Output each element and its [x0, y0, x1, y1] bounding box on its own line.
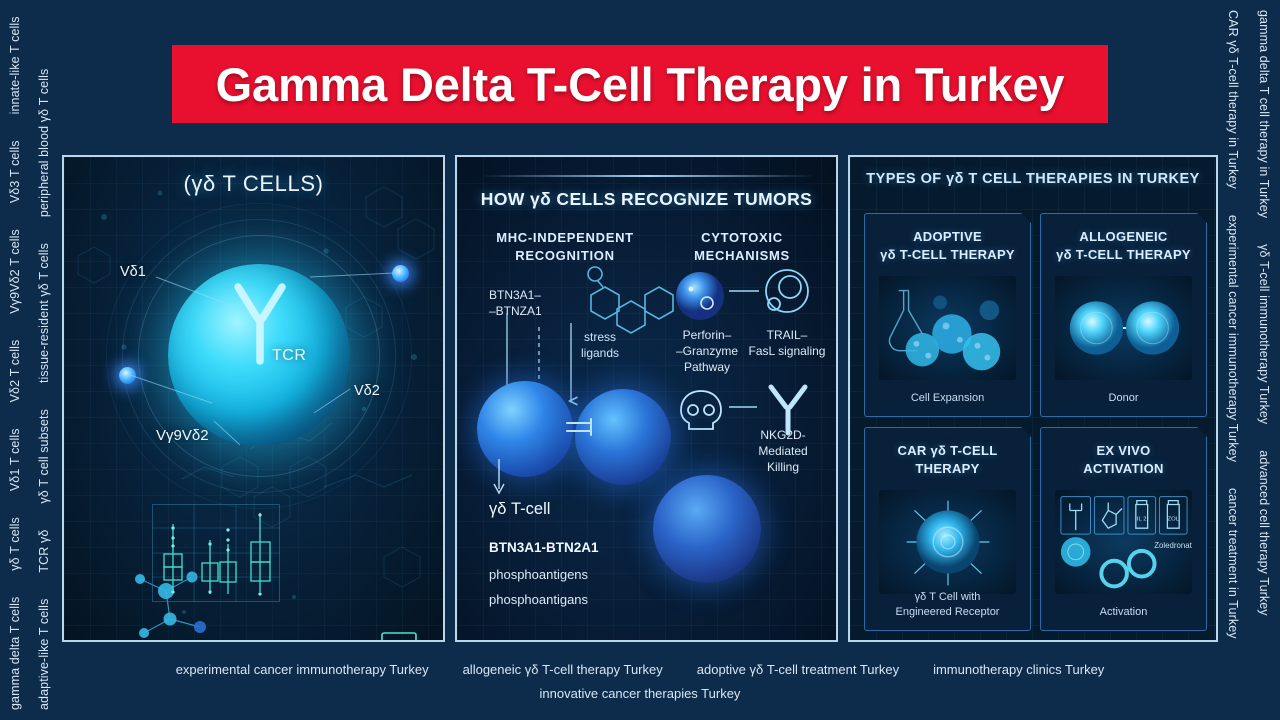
rail-keyword: Vδ3 T cells: [8, 140, 22, 203]
rail-keyword: γδ T cells: [8, 517, 22, 571]
down-arrow-icon: [487, 457, 511, 497]
card-allogeneic-therapy[interactable]: ALLOGENEIC γδ T-CELL THERAPY: [1040, 213, 1207, 417]
box-plot-chart: [152, 504, 280, 602]
rail-keyword: tissue-resident γδ T cells: [37, 243, 51, 383]
card-caption: Activation: [1047, 605, 1200, 619]
label-vg9vd2: Vγ9Vδ2: [156, 427, 209, 444]
rail-left-inner: adaptive-like T cells TCR γδ γδ T cell s…: [29, 0, 59, 720]
rail-keyword: TCR γδ: [37, 530, 51, 573]
bottom-keywords-row-2: innovative cancer therapies Turkey: [62, 686, 1218, 701]
rail-keyword: CAR γδ T-cell therapy in Turkey: [1226, 10, 1240, 189]
bottom-keyword: allogeneic γδ T-cell therapy Turkey: [463, 662, 663, 677]
rail-keyword: peripheral blood γδ T cells: [37, 69, 51, 217]
rail-right-inner-items: CAR γδ T-cell therapy in Turkey experime…: [1218, 0, 1248, 720]
synapse-connector-icon: [565, 415, 599, 445]
rail-keyword: gamma delta T cell therapy in Turkey: [1257, 10, 1271, 218]
page-title: Gamma Delta T-Cell Therapy in Turkey: [216, 57, 1065, 112]
label-perforin-granzyme: Perforin– –Granzyme Pathway: [667, 327, 747, 376]
zoledronate-label: Zoledronate: [1154, 541, 1192, 550]
skull-icon: [675, 385, 727, 437]
engineered-receptor-cell-icon: [879, 490, 1016, 594]
rail-left-outer: gamma delta T cells γδ T cells Vδ1 T cel…: [0, 0, 30, 720]
bottom-keyword: experimental cancer immunotherapy Turkey: [176, 662, 429, 677]
bottom-keyword: immunotherapy clinics Turkey: [933, 662, 1104, 677]
bottom-keyword: adoptive γδ T-cell treatment Turkey: [697, 662, 899, 677]
card-image-donor: [1055, 276, 1192, 380]
rail-keyword: advanced cell therapy Turkey: [1257, 450, 1271, 615]
vial-label-left: IL 2: [1137, 516, 1147, 522]
card-image-activation: IL 2 ZOL Zoledronate: [1055, 490, 1192, 594]
label-phosphoantigens: phosphoantigens: [489, 566, 588, 584]
card-ex-vivo-activation[interactable]: EX VIVO ACTIVATION IL 2: [1040, 427, 1207, 631]
rail-left-outer-items: gamma delta T cells γδ T cells Vδ1 T cel…: [0, 0, 30, 720]
title-banner: Gamma Delta T-Cell Therapy in Turkey: [172, 45, 1108, 123]
panel-tumor-recognition: HOW γδ CELLS RECOGNIZE TUMORS MHC-INDEPE…: [455, 155, 838, 642]
center-panel-title: HOW γδ CELLS RECOGNIZE TUMORS: [457, 189, 836, 210]
rail-right-outer-items: gamma delta T cell therapy in Turkey γδ …: [1249, 0, 1279, 720]
rail-keyword: adaptive-like T cells: [37, 599, 51, 710]
label-gd-t-cell: γδ T-cell: [489, 498, 550, 520]
rail-keyword: Vγ9Vδ2 T cells: [8, 229, 22, 314]
title-divider: [481, 175, 815, 177]
rail-keyword: innate-like T cells: [8, 16, 22, 114]
two-cells-donor-icon: [1055, 276, 1192, 380]
bottom-keyword: innovative cancer therapies Turkey: [540, 686, 741, 701]
rail-keyword: Vδ2 T cells: [8, 340, 22, 403]
rail-keyword: γδ T-cell immunotherapy Turkey: [1257, 244, 1271, 424]
infographic-root: gamma delta T cells γδ T cells Vδ1 T cel…: [0, 0, 1280, 720]
label-vd1: Vδ1: [120, 264, 146, 280]
card-adoptive-therapy[interactable]: ADOPTIVE γδ T-CELL THERAPY: [864, 213, 1031, 417]
activation-reagents-icon: IL 2 ZOL Zoledronate: [1055, 490, 1192, 594]
test-tube-icon: [370, 629, 430, 642]
vial-label-right: ZOL: [1168, 516, 1180, 522]
label-btn3a1-btn2a1: BTN3A1-BTN2A1: [489, 539, 599, 557]
label-vd2: Vδ2: [354, 383, 380, 399]
label-nkg2d-killing: NKG2D- Mediated Killing: [745, 427, 821, 476]
rail-keyword: experimental cancer immunotherapy Turkey: [1226, 215, 1240, 462]
bottom-keywords-row-1: experimental cancer immunotherapy Turkey…: [62, 662, 1218, 677]
card-title: ADOPTIVE γδ T-CELL THERAPY: [871, 228, 1024, 264]
card-title: CAR γδ T-CELL THERAPY: [871, 442, 1024, 478]
heading-mhc-independent: MHC-INDEPENDENT RECOGNITION: [485, 229, 645, 264]
rail-keyword: γδ T cell subsets: [37, 409, 51, 504]
rail-left-inner-items: adaptive-like T cells TCR γδ γδ T cell s…: [29, 0, 59, 720]
connector-line-icon: [729, 405, 757, 409]
rail-keyword: Vδ1 T cells: [8, 428, 22, 491]
trail-fasl-receptor-icon: [757, 265, 815, 323]
card-title: ALLOGENEIC γδ T-CELL THERAPY: [1047, 228, 1200, 264]
rail-right-outer: gamma delta T cell therapy in Turkey γδ …: [1249, 0, 1279, 720]
label-trail-fasl: TRAIL– FasL signaling: [745, 327, 829, 359]
rail-keyword: gamma delta T cells: [8, 597, 22, 710]
rail-right-inner: CAR γδ T-cell therapy in Turkey experime…: [1218, 0, 1248, 720]
card-image-cell-expansion: [879, 276, 1016, 380]
label-phosphoantigans: phosphoantigans: [489, 591, 588, 609]
heading-cytotoxic: CYTOTOXIC MECHANISMS: [667, 229, 817, 264]
card-title: EX VIVO ACTIVATION: [1047, 442, 1200, 478]
panel-therapy-types: TYPES OF γδ T CELL THERAPIES IN TURKEY A…: [848, 155, 1218, 642]
card-image-car-cell: [879, 490, 1016, 594]
right-panel-title: TYPES OF γδ T CELL THERAPIES IN TURKEY: [850, 171, 1216, 187]
perforin-granzyme-cell-icon: [673, 269, 727, 323]
connector-line-icon: [729, 289, 759, 293]
flask-and-cells-icon: [879, 276, 1016, 380]
card-caption: Donor: [1047, 391, 1200, 405]
label-tcr: TCR: [272, 347, 306, 365]
tumor-cell-blob-2: [653, 475, 761, 583]
card-car-therapy[interactable]: CAR γδ T-CELL THERAPY: [864, 427, 1031, 631]
card-caption: γδ T Cell with Engineered Receptor: [871, 590, 1024, 619]
rail-keyword: cancer treatment in Turkey: [1226, 488, 1240, 639]
card-caption: Cell Expansion: [871, 391, 1024, 405]
panel-gd-t-cells: (γδ T CELLS) Vδ1 Vδ2 TCR Vγ9: [62, 155, 445, 642]
